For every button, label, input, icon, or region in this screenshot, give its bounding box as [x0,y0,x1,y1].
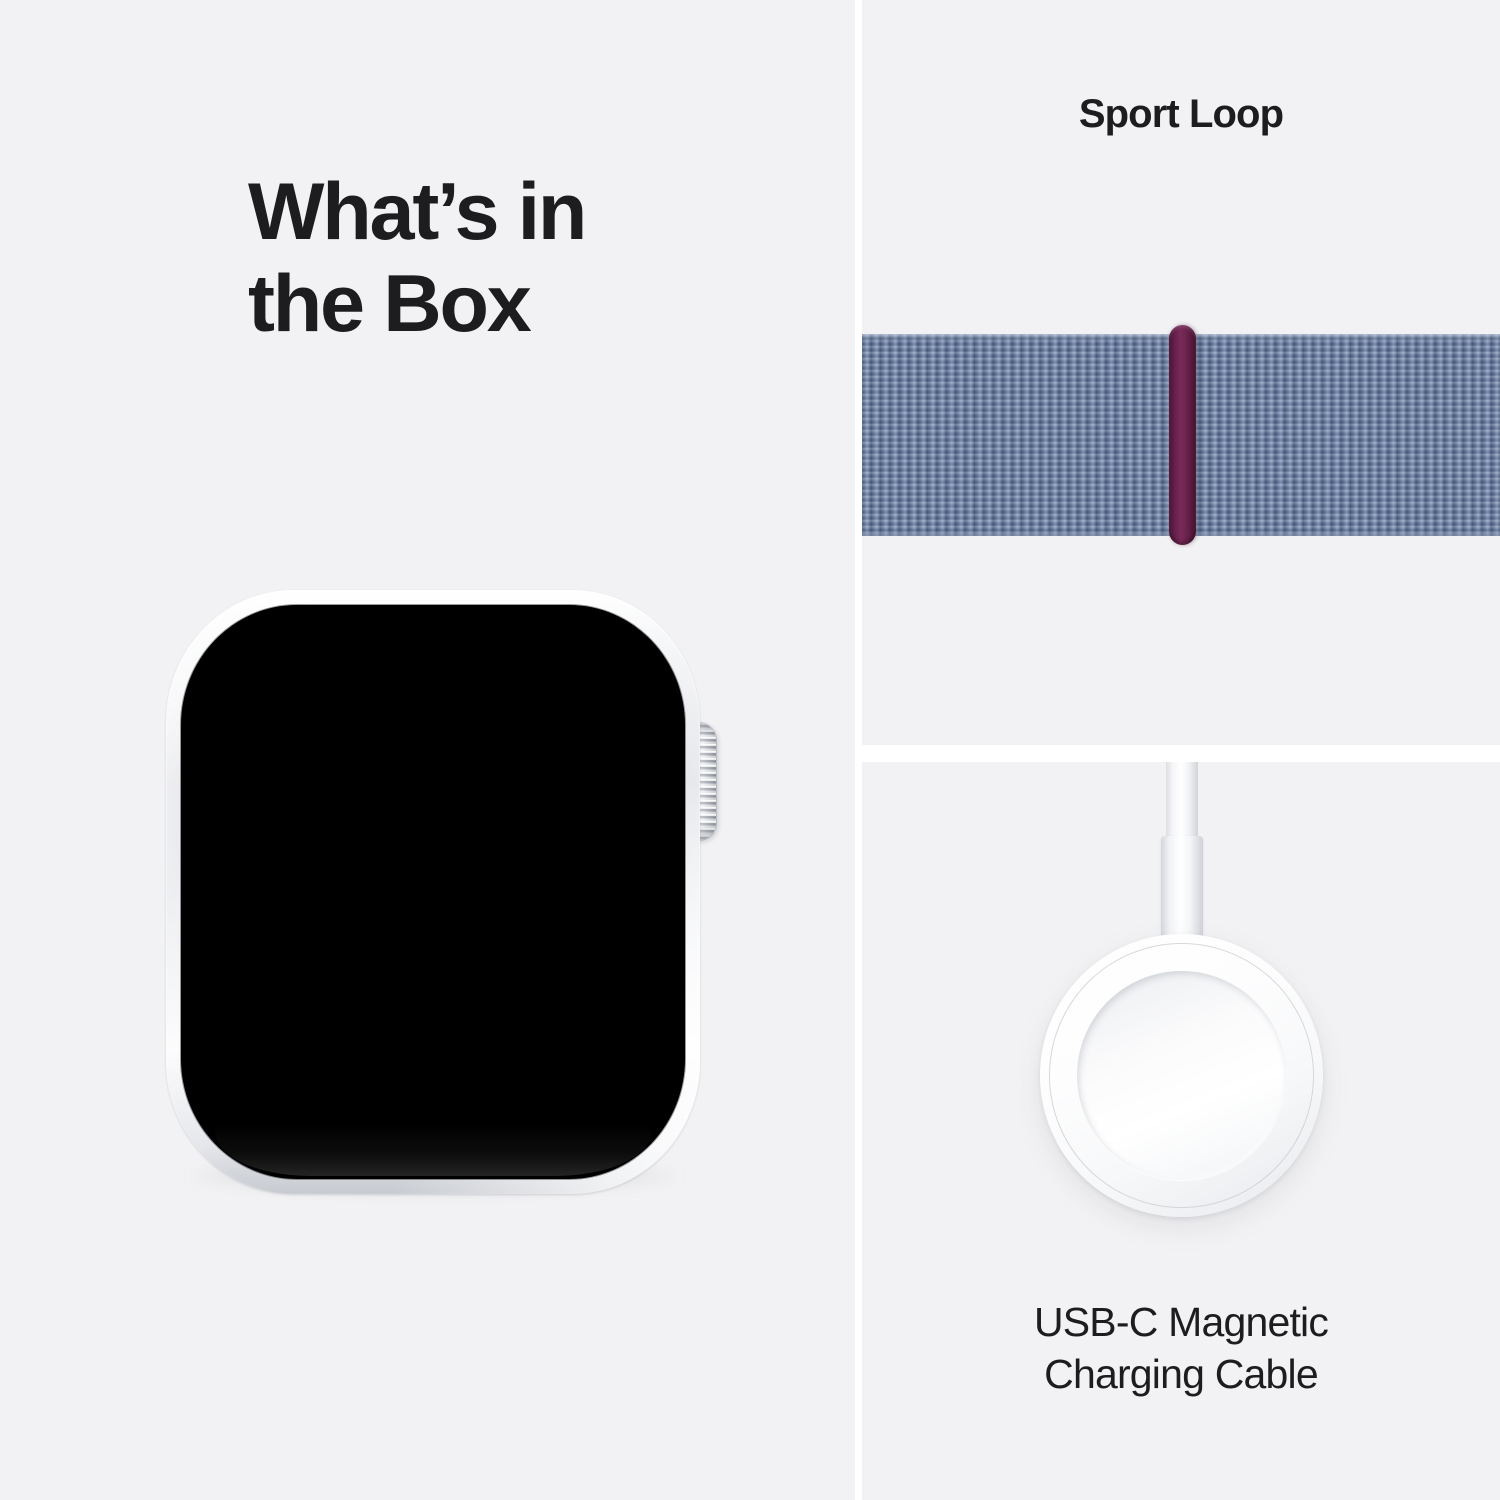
panel-whats-in-the-box: What’s in the Box [0,0,855,1500]
charging-puck-icon [1040,934,1323,1217]
sport-loop-caption: Sport Loop [862,92,1500,137]
product-gallery-image: What’s in the Box Sport Loop USB-C Magne… [0,0,1500,1500]
cable-icon [1166,762,1198,838]
charging-puck-inner-disc [1077,971,1286,1180]
vertical-divider [855,0,862,1500]
charging-cable-caption: USB-C Magnetic Charging Cable [862,1297,1500,1400]
panel-sport-loop: Sport Loop [862,0,1500,745]
panel-charging-cable: USB-C Magnetic Charging Cable [862,762,1500,1500]
horizontal-divider [862,745,1500,762]
band-accent-stripe [1169,325,1196,545]
watch-display [181,605,685,1179]
watch-case [166,590,700,1194]
cable-strain-relief [1161,836,1203,944]
apple-watch-figure [166,590,741,1194]
page-title: What’s in the Box [248,166,808,351]
